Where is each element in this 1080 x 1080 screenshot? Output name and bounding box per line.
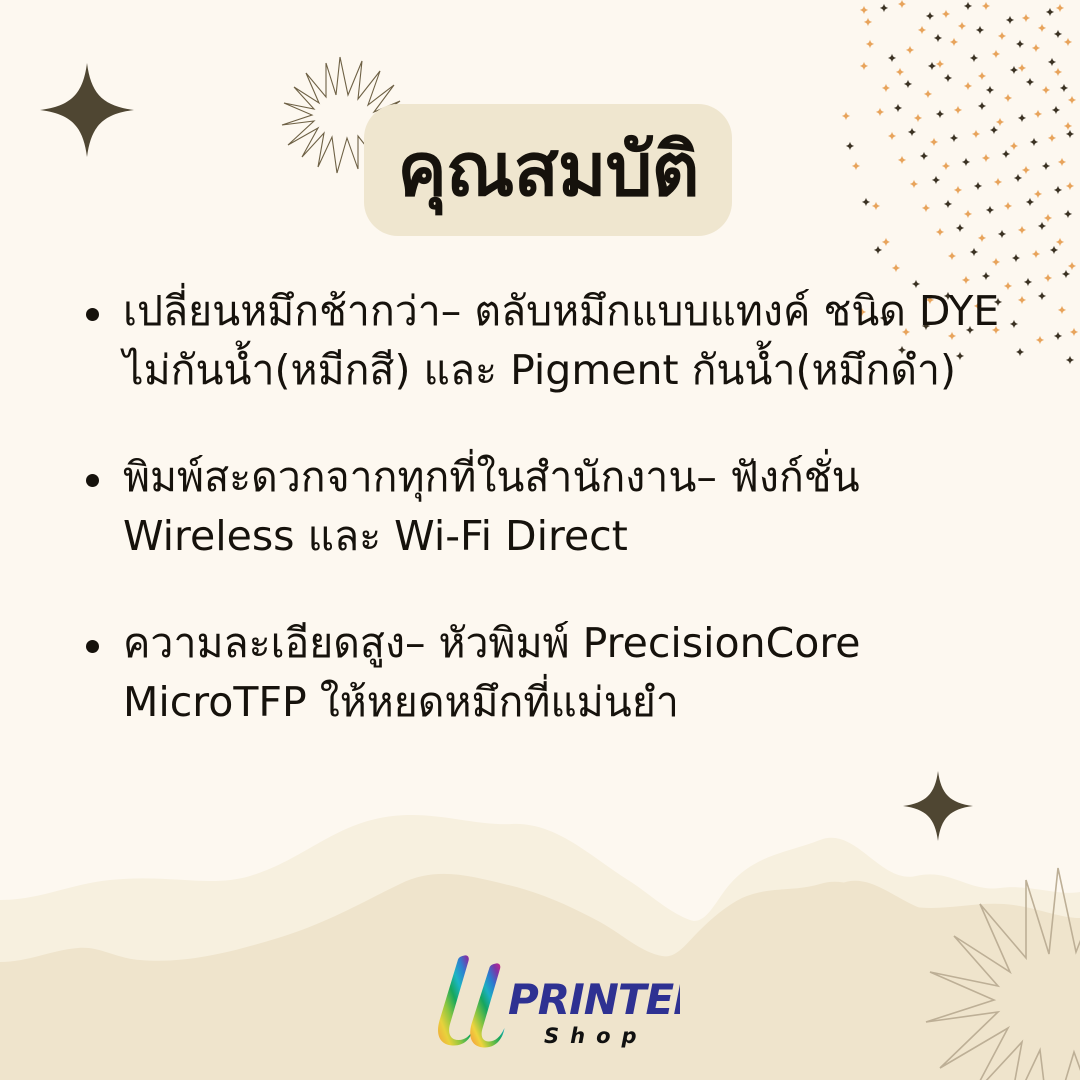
logo-sub-text: Shop [544,1024,648,1048]
sparkle-star-top-left-icon [40,63,134,157]
list-item: พิมพ์สะดวกจากทุกที่ในสำนักงาน– ฟังก์ชั่น… [86,448,1046,566]
logo-brand-text: PRINTER [508,975,680,1024]
list-item: เปลี่ยนหมึกช้ากว่า– ตลับหมึกแบบแทงค์ ชนิ… [86,282,1046,400]
hill-right [700,886,1080,1080]
poster-canvas: คุณสมบัติ เปลี่ยนหมึกช้ากว่า– ตลับหมึกแบ… [0,0,1080,1080]
feature-list: เปลี่ยนหมึกช้ากว่า– ตลับหมึกแบบแทงค์ ชนิ… [86,282,1046,732]
feature-text: ความละเอียดสูง– หัวพิมพ์ PrecisionCore M… [123,614,1028,732]
page-title: คุณสมบัติ [364,104,732,236]
logo-mark-u-icon [438,955,504,1047]
hill-right-upper [760,881,1080,1080]
feature-text: พิมพ์สะดวกจากทุกที่ในสำนักงาน– ฟังก์ชั่น… [123,448,1028,566]
sparkle-star-bottom-right-icon [903,771,973,841]
brand-logo: PRINTER Shop [420,948,680,1052]
bullet-icon [86,640,99,653]
bullet-icon [86,474,99,487]
feature-text: เปลี่ยนหมึกช้ากว่า– ตลับหมึกแบบแทงค์ ชนิ… [123,282,1028,400]
list-item: ความละเอียดสูง– หัวพิมพ์ PrecisionCore M… [86,614,1046,732]
bullet-icon [86,308,99,321]
